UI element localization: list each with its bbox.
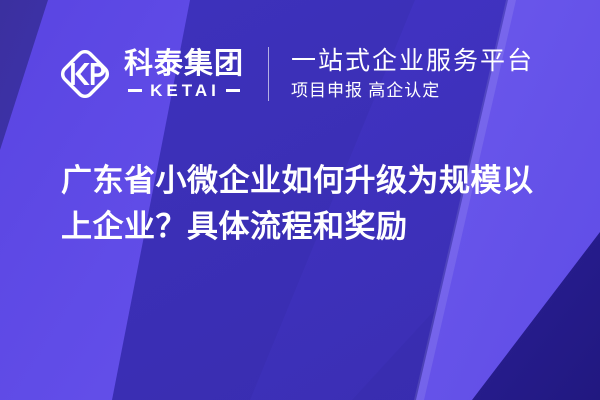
page-title-line-2: 上企业？具体流程和奖励 [61, 204, 561, 250]
brand-logo[interactable]: 科泰集团 KETAI [56, 45, 244, 103]
banner-header: 科泰集团 KETAI 一站式企业服务平台 项目申报 高企认定 [0, 36, 600, 112]
logo-wordmark: 科泰集团 KETAI [124, 49, 244, 100]
logo-rule-right [226, 89, 240, 92]
logo-english-row: KETAI [124, 82, 244, 100]
promo-banner: 科泰集团 KETAI 一站式企业服务平台 项目申报 高企认定 广东省小微企业如何… [0, 0, 600, 400]
page-title: 广东省小微企业如何升级为规模以 上企业？具体流程和奖励 [61, 158, 561, 250]
logo-rule-left [128, 89, 142, 92]
logo-english-name: KETAI [142, 82, 226, 100]
header-divider [268, 47, 269, 101]
ketai-diamond-kt-logo-icon [56, 45, 114, 103]
tagline-sub-text: 项目申报 高企认定 [291, 79, 534, 103]
brand-tagline: 一站式企业服务平台 项目申报 高企认定 [291, 46, 534, 103]
logo-chinese-name: 科泰集团 [124, 49, 244, 79]
page-title-line-1: 广东省小微企业如何升级为规模以 [61, 158, 561, 204]
tagline-main-text: 一站式企业服务平台 [291, 46, 534, 77]
